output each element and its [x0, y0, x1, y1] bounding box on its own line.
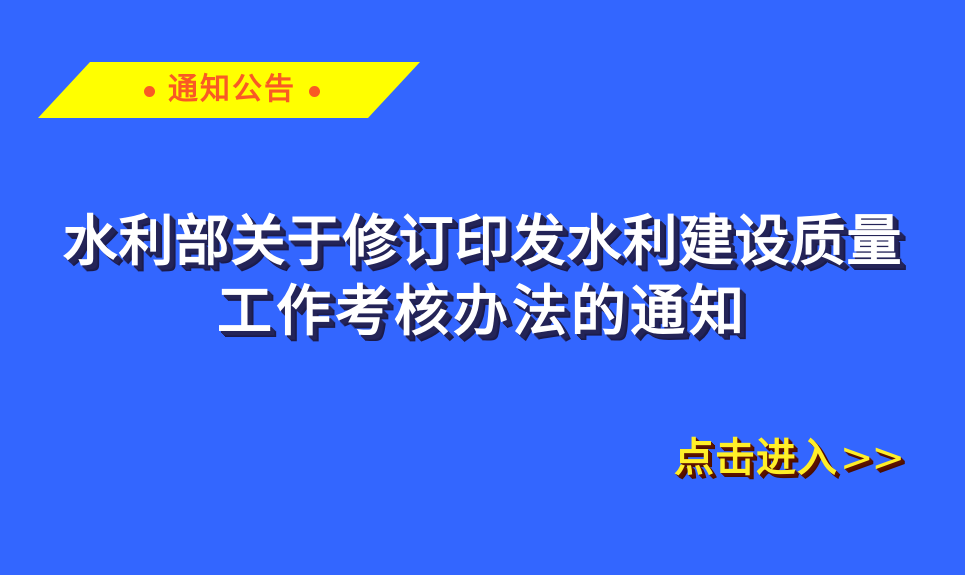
enter-link-label: 点击进入 — [674, 434, 838, 482]
notice-banner: 通知公告 — [38, 62, 420, 118]
page-title-line-1: 水利部关于修订印发水利建设质量 — [0, 206, 965, 276]
banner-left-dot-icon — [144, 86, 155, 97]
banner-content: 通知公告 — [38, 62, 420, 118]
notice-poster: 通知公告 水利部关于修订印发水利建设质量 工作考核办法的通知 点击进入 >> — [0, 0, 965, 575]
banner-right-dot-icon — [309, 86, 320, 97]
page-title: 水利部关于修订印发水利建设质量 工作考核办法的通知 — [0, 206, 965, 346]
banner-label: 通知公告 — [168, 75, 296, 105]
page-title-line-2: 工作考核办法的通知 — [0, 276, 965, 346]
enter-link[interactable]: 点击进入 >> — [674, 434, 903, 482]
double-chevron-right-icon: >> — [840, 434, 903, 482]
